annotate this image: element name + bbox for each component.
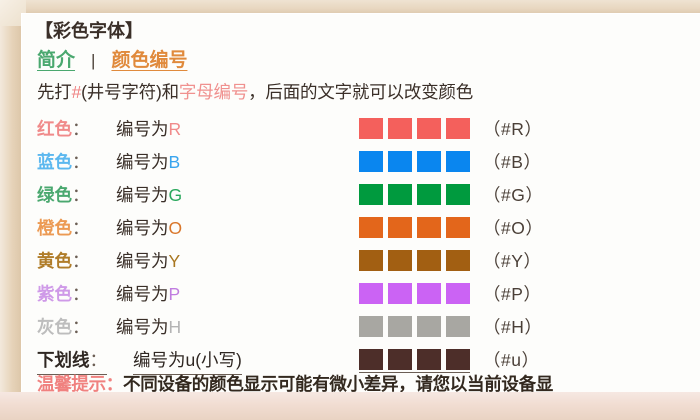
color-swatch bbox=[417, 217, 441, 238]
table-row: 灰色：编号为H（#H） bbox=[21, 311, 700, 344]
color-name-label: 红色： bbox=[37, 116, 90, 141]
color-swatch bbox=[359, 283, 383, 304]
color-swatch-group bbox=[359, 283, 470, 304]
color-swatch bbox=[446, 283, 470, 304]
code-token: （#u） bbox=[483, 347, 539, 372]
screenshot-root: 【彩色字体】 简介 | 颜色编号 先打#(井号字符)和字母编号，后面的文字就可以… bbox=[0, 0, 700, 420]
color-name-text: 绿色 bbox=[37, 185, 72, 205]
color-swatch bbox=[417, 151, 441, 172]
code-prefix-text: 编号为 bbox=[116, 185, 169, 205]
colon-separator: ： bbox=[72, 185, 90, 205]
tip-label: 温馨提示： bbox=[37, 374, 123, 394]
code-description: 编号为P bbox=[116, 281, 180, 306]
hash-symbol: # bbox=[72, 82, 82, 102]
code-description: 编号为H bbox=[116, 314, 181, 339]
instruction-part1: 先打 bbox=[37, 82, 72, 102]
color-name-text: 紫色 bbox=[37, 284, 72, 304]
color-swatch bbox=[417, 316, 441, 337]
color-swatch bbox=[417, 283, 441, 304]
nav-tabs: 简介 | 颜色编号 bbox=[37, 45, 187, 72]
code-description: 编号为G bbox=[116, 182, 182, 207]
code-prefix-text: 编号为 bbox=[116, 284, 169, 304]
code-description: 编号为B bbox=[116, 149, 180, 174]
nav-separator: | bbox=[91, 51, 95, 71]
table-row: 绿色：编号为G（#G） bbox=[21, 179, 700, 212]
colon-separator: ： bbox=[72, 251, 90, 271]
color-swatch bbox=[388, 283, 412, 304]
color-swatch bbox=[446, 250, 470, 271]
frame-left-border bbox=[0, 0, 22, 420]
color-name-text: 红色 bbox=[37, 119, 72, 139]
color-swatch bbox=[446, 217, 470, 238]
code-letter: u(小写) bbox=[186, 350, 242, 370]
tab-color-codes[interactable]: 颜色编号 bbox=[111, 45, 187, 72]
content-card: 【彩色字体】 简介 | 颜色编号 先打#(井号字符)和字母编号，后面的文字就可以… bbox=[21, 13, 700, 392]
code-letter: O bbox=[169, 218, 183, 238]
color-swatch bbox=[388, 118, 412, 139]
instruction-part3: ，后面的文字就可以改变颜色 bbox=[248, 82, 473, 102]
colon-separator: ： bbox=[72, 152, 90, 172]
color-name-label: 橙色： bbox=[37, 215, 90, 240]
code-letter: R bbox=[169, 119, 182, 139]
color-swatch bbox=[417, 184, 441, 205]
code-letter: G bbox=[169, 185, 183, 205]
color-swatch bbox=[359, 316, 383, 337]
color-swatch bbox=[446, 184, 470, 205]
code-prefix-text: 编号为 bbox=[116, 317, 169, 337]
color-swatch bbox=[359, 151, 383, 172]
color-swatch-group bbox=[359, 349, 470, 373]
color-name-text: 蓝色 bbox=[37, 152, 72, 172]
color-swatch bbox=[388, 349, 412, 370]
code-letter: P bbox=[169, 284, 181, 304]
code-token: （#H） bbox=[483, 314, 542, 339]
color-swatch bbox=[359, 349, 383, 370]
code-token: （#G） bbox=[483, 182, 543, 207]
color-code-table: 红色：编号为R（#R）蓝色：编号为B（#B）绿色：编号为G（#G）橙色：编号为O… bbox=[21, 113, 700, 377]
color-name-text: 下划线 bbox=[37, 350, 90, 370]
tip-body: 不同设备的颜色显示可能有微小差异，请您以当前设备显 bbox=[123, 374, 553, 394]
code-token: （#B） bbox=[483, 149, 541, 174]
color-swatch-group bbox=[359, 184, 470, 205]
color-swatch-group bbox=[359, 316, 470, 337]
color-swatch bbox=[417, 118, 441, 139]
frame-top-border bbox=[0, 0, 700, 14]
page-title: 【彩色字体】 bbox=[35, 17, 143, 43]
color-name-label: 蓝色： bbox=[37, 149, 90, 174]
color-swatch bbox=[417, 250, 441, 271]
color-swatch bbox=[359, 250, 383, 271]
color-swatch bbox=[388, 316, 412, 337]
code-token: （#Y） bbox=[483, 248, 541, 273]
table-row: 黄色：编号为Y（#Y） bbox=[21, 245, 700, 278]
color-swatch bbox=[446, 151, 470, 172]
color-swatch-group bbox=[359, 217, 470, 238]
color-name-text: 黄色 bbox=[37, 251, 72, 271]
color-swatch bbox=[359, 184, 383, 205]
color-name-label: 黄色： bbox=[37, 248, 90, 273]
code-prefix-text: 编号为 bbox=[116, 251, 169, 271]
code-prefix-text: 编号为 bbox=[133, 350, 186, 370]
code-token: （#O） bbox=[483, 215, 543, 240]
table-row: 紫色：编号为P（#P） bbox=[21, 278, 700, 311]
color-name-label: 紫色： bbox=[37, 281, 90, 306]
code-token: （#R） bbox=[483, 116, 542, 141]
code-prefix-text: 编号为 bbox=[116, 152, 169, 172]
color-swatch bbox=[359, 118, 383, 139]
code-letter: Y bbox=[169, 251, 181, 271]
color-swatch-group bbox=[359, 118, 470, 139]
tab-intro[interactable]: 简介 bbox=[37, 45, 75, 72]
color-swatch bbox=[388, 184, 412, 205]
code-letter: H bbox=[169, 317, 182, 337]
color-name-text: 灰色 bbox=[37, 317, 72, 337]
color-swatch bbox=[388, 151, 412, 172]
instruction-emphasis: 字母编号 bbox=[179, 82, 248, 102]
color-name-text: 橙色 bbox=[37, 218, 72, 238]
code-token: （#P） bbox=[483, 281, 541, 306]
colon-separator: ： bbox=[72, 317, 90, 337]
color-swatch bbox=[417, 349, 441, 370]
code-description: 编号为O bbox=[116, 215, 182, 240]
code-description: 编号为Y bbox=[116, 248, 180, 273]
color-swatch-group bbox=[359, 250, 470, 271]
color-name-label: 灰色： bbox=[37, 314, 90, 339]
code-letter: B bbox=[169, 152, 181, 172]
code-prefix-text: 编号为 bbox=[116, 218, 169, 238]
color-swatch-group bbox=[359, 151, 470, 172]
color-swatch bbox=[446, 316, 470, 337]
table-row: 橙色：编号为O（#O） bbox=[21, 212, 700, 245]
instruction-line: 先打#(井号字符)和字母编号，后面的文字就可以改变颜色 bbox=[37, 79, 473, 104]
color-swatch bbox=[359, 217, 383, 238]
colon-separator: ： bbox=[72, 119, 90, 139]
colon-separator: ： bbox=[72, 284, 90, 304]
color-name-label: 绿色： bbox=[37, 182, 90, 207]
color-swatch bbox=[388, 217, 412, 238]
colon-separator: ： bbox=[72, 218, 90, 238]
colon-separator: ： bbox=[90, 350, 108, 370]
color-swatch bbox=[446, 349, 470, 370]
table-row: 红色：编号为R（#R） bbox=[21, 113, 700, 146]
color-swatch bbox=[388, 250, 412, 271]
code-description: 编号为R bbox=[116, 116, 181, 141]
instruction-part2: (井号字符)和 bbox=[81, 82, 179, 102]
frame-bottom-border bbox=[0, 392, 700, 420]
code-prefix-text: 编号为 bbox=[116, 119, 169, 139]
color-swatch bbox=[446, 118, 470, 139]
table-row: 蓝色：编号为B（#B） bbox=[21, 146, 700, 179]
